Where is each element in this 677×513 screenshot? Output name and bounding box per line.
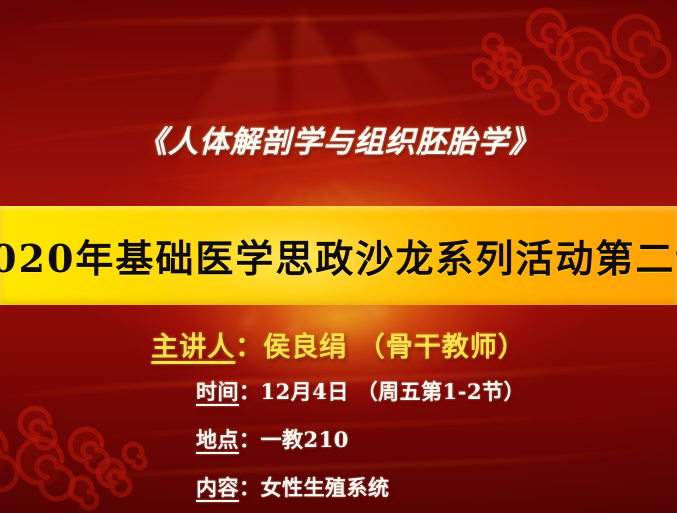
- speaker-separator: ：: [235, 332, 263, 363]
- poster-canvas: 《人体解剖学与组织胚胎学》 2020年基础医学思政沙龙系列活动第二讲 主讲人：侯…: [0, 0, 677, 513]
- speaker-label: 主讲人: [151, 332, 235, 363]
- details-block: 主讲人：侯良绢 （骨干教师） 时间：12月4日 （周五第1-2节） 地点：一教2…: [0, 325, 677, 502]
- event-title: 2020年基础医学思政沙龙系列活动第二讲: [0, 228, 677, 283]
- poster-content: 《人体解剖学与组织胚胎学》 2020年基础医学思政沙龙系列活动第二讲 主讲人：侯…: [0, 0, 677, 513]
- detail-row-speaker: 主讲人：侯良绢 （骨干教师）: [0, 325, 677, 364]
- detail-row-time: 时间：12月4日 （周五第1-2节）: [0, 376, 677, 406]
- speaker-value: 侯良绢 （骨干教师）: [263, 332, 525, 363]
- place-label: 地点: [196, 427, 239, 452]
- topic-label: 内容: [196, 475, 239, 500]
- event-title-banner: 2020年基础医学思政沙龙系列活动第二讲: [0, 206, 677, 305]
- topic-separator: ：: [239, 475, 261, 500]
- place-separator: ：: [239, 427, 261, 452]
- detail-row-place: 地点：一教210: [0, 424, 677, 454]
- detail-row-topic: 内容：女性生殖系统: [0, 472, 677, 502]
- time-value: 12月4日 （周五第1-2节）: [261, 379, 526, 404]
- time-label: 时间: [196, 379, 239, 404]
- course-title: 《人体解剖学与组织胚胎学》: [0, 117, 677, 161]
- topic-value: 女性生殖系统: [261, 475, 390, 500]
- time-separator: ：: [239, 379, 261, 404]
- place-value: 一教210: [261, 427, 349, 452]
